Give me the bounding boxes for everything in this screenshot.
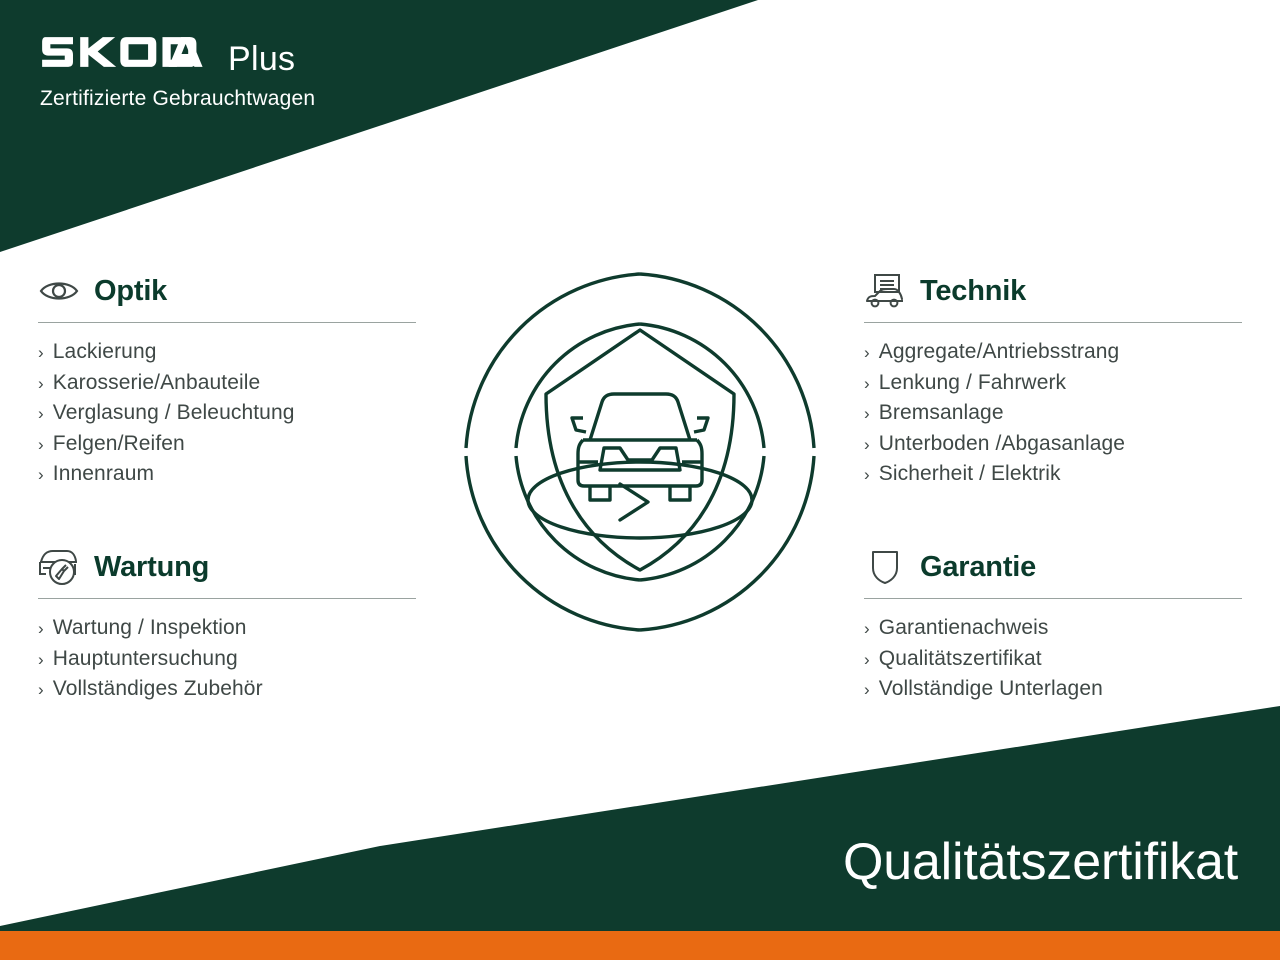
list-item-label: Innenraum [53,459,154,490]
list-item-label: Garantienachweis [879,613,1049,644]
section-garantie: Garantie › Garantienachweis › Qualitätsz… [864,544,1242,705]
brand-logo: Plus Zertifizierte Gebrauchtwagen [40,34,315,111]
list-item-label: Bremsanlage [879,398,1004,429]
chevron-right-icon: › [38,405,44,422]
chevron-right-icon: › [864,344,870,361]
list-item-label: Lenkung / Fahrwerk [879,368,1066,399]
document-car-icon [864,274,906,308]
chevron-right-icon: › [864,405,870,422]
list-item-label: Aggregate/Antriebsstrang [879,337,1120,368]
section-wartung: Wartung › Wartung / Inspektion › Hauptun… [38,544,416,705]
section-header: Wartung [38,544,416,590]
footer-wordmark: Qualitätszertifikat [843,836,1238,888]
car-wrench-icon [38,550,80,584]
section-optik: Optik › Lackierung › Karosserie/Anbautei… [38,268,416,490]
list-item: › Wartung / Inspektion [38,613,416,644]
list-item-label: Wartung / Inspektion [53,613,247,644]
chevron-right-icon: › [38,375,44,392]
list-item: › Hauptuntersuchung [38,644,416,675]
chevron-right-icon: › [864,436,870,453]
list-item-label: Karosserie/Anbauteile [53,368,261,399]
list-item: › Lenkung / Fahrwerk [864,368,1242,399]
section-list: › Lackierung › Karosserie/Anbauteile › V… [38,323,416,490]
chevron-right-icon: › [864,466,870,483]
list-item-label: Lackierung [53,337,157,368]
list-item: › Karosserie/Anbauteile [38,368,416,399]
section-title: Technik [920,277,1026,306]
logo-row: Plus [40,34,315,78]
list-item-label: Felgen/Reifen [53,429,185,460]
list-item: › Garantienachweis [864,613,1242,644]
chevron-right-icon: › [38,651,44,668]
list-item-label: Vollständige Unterlagen [879,674,1103,705]
list-item: › Vollständige Unterlagen [864,674,1242,705]
skoda-wordmark-icon [40,34,215,70]
section-header: Optik [38,268,416,314]
list-item: › Felgen/Reifen [38,429,416,460]
chevron-right-icon: › [864,681,870,698]
section-technik: Technik › Aggregate/Antriebsstrang › Len… [864,268,1242,490]
chevron-right-icon: › [38,344,44,361]
chevron-right-icon: › [38,466,44,483]
list-item-label: Verglasung / Beleuchtung [53,398,295,429]
section-title: Optik [94,277,167,306]
chevron-right-icon: › [38,436,44,453]
chevron-right-icon: › [38,620,44,637]
list-item: › Unterboden /Abgasanlage [864,429,1242,460]
list-item: › Lackierung [38,337,416,368]
section-header: Garantie [864,544,1242,590]
chevron-right-icon: › [864,375,870,392]
list-item: › Aggregate/Antriebsstrang [864,337,1242,368]
list-item-label: Qualitätszertifikat [879,644,1042,675]
list-item-label: Sicherheit / Elektrik [879,459,1061,490]
section-list: › Aggregate/Antriebsstrang › Lenkung / F… [864,323,1242,490]
list-item: › Vollständiges Zubehör [38,674,416,705]
list-item: › Qualitätszertifikat [864,644,1242,675]
chevron-right-icon: › [864,651,870,668]
list-item-label: Vollständiges Zubehör [53,674,263,705]
list-item-label: Hauptuntersuchung [53,644,238,675]
list-item: › Innenraum [38,459,416,490]
certified-vehicle-emblem [452,252,828,648]
eye-icon [38,274,80,308]
section-title: Wartung [94,553,209,582]
list-item: › Sicherheit / Elektrik [864,459,1242,490]
certificate-page: Plus Zertifizierte Gebrauchtwagen Optik … [0,0,1280,960]
orange-accent-bar [0,931,1280,960]
list-item-label: Unterboden /Abgasanlage [879,429,1125,460]
chevron-right-icon: › [38,681,44,698]
logo-subtitle: Zertifizierte Gebrauchtwagen [40,87,315,111]
shield-icon [864,550,906,584]
logo-plus-text: Plus [228,42,295,76]
section-title: Garantie [920,553,1036,582]
section-header: Technik [864,268,1242,314]
chevron-right-icon: › [864,620,870,637]
list-item: › Bremsanlage [864,398,1242,429]
section-list: › Garantienachweis › Qualitätszertifikat… [864,599,1242,705]
section-list: › Wartung / Inspektion › Hauptuntersuchu… [38,599,416,705]
list-item: › Verglasung / Beleuchtung [38,398,416,429]
